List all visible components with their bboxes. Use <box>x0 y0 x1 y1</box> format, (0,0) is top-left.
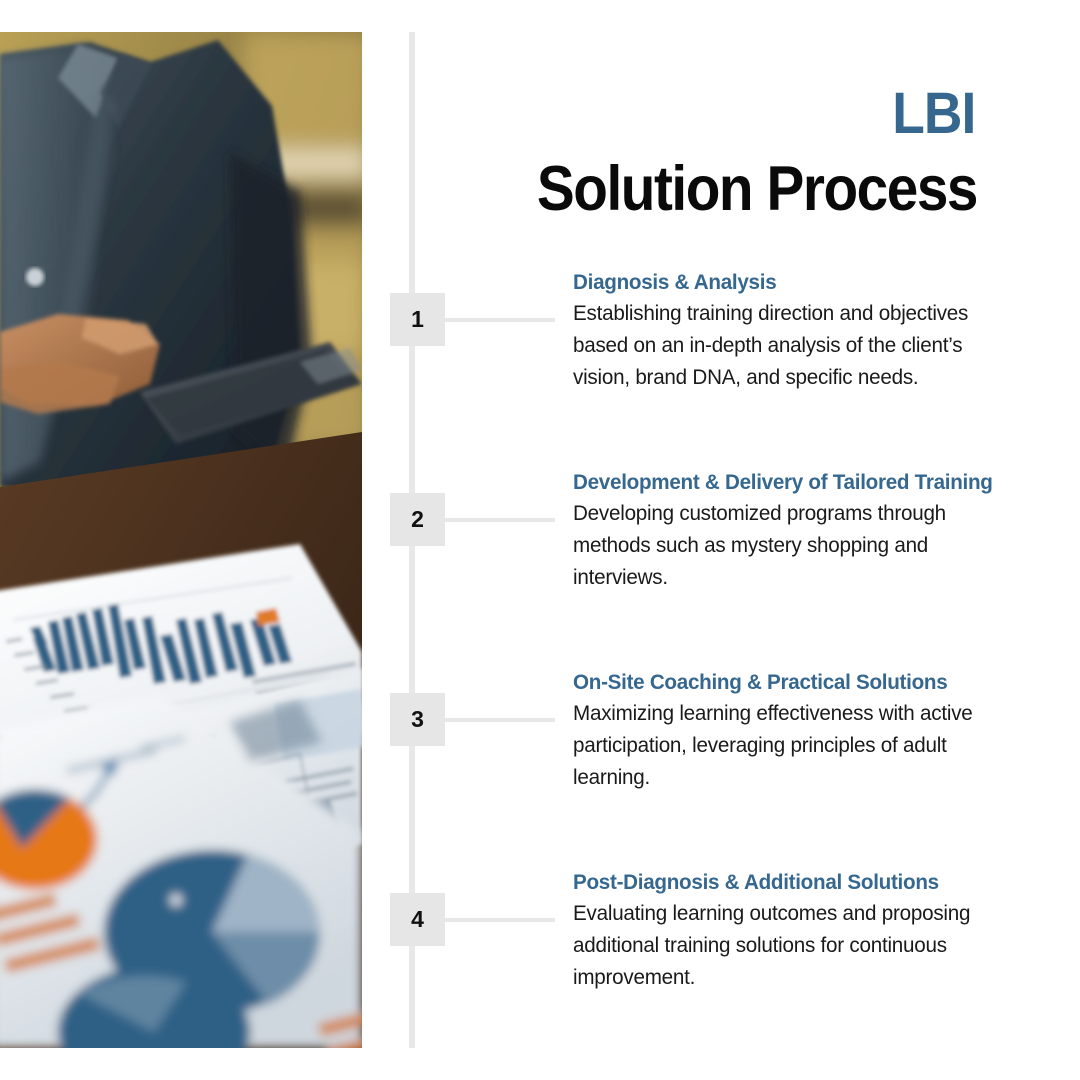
step-title: On-Site Coaching & Practical Solutions <box>573 667 995 698</box>
step-number-badge[interactable]: 1 <box>390 293 445 346</box>
step-connector-line <box>445 918 555 922</box>
infographic-canvas: LBI Solution Process 1 Diagnosis & Analy… <box>0 0 1080 1080</box>
step-title: Post-Diagnosis & Additional Solutions <box>573 867 995 898</box>
step-title: Diagnosis & Analysis <box>573 267 995 298</box>
step-connector-line <box>445 518 555 522</box>
step-description: Evaluating learning outcomes and proposi… <box>573 898 995 993</box>
step-title: Development & Delivery of Tailored Train… <box>573 467 995 498</box>
step-content: Diagnosis & Analysis Establishing traini… <box>573 267 1013 394</box>
step-content: Development & Delivery of Tailored Train… <box>573 467 1013 594</box>
step-connector-line <box>445 718 555 722</box>
step-number-badge[interactable]: 3 <box>390 693 445 746</box>
step-number-badge[interactable]: 4 <box>390 893 445 946</box>
step-description: Developing customized programs through m… <box>573 498 995 593</box>
process-steps-list: 1 Diagnosis & Analysis Establishing trai… <box>0 0 1080 1080</box>
step-description: Maximizing learning effectiveness with a… <box>573 698 995 793</box>
step-connector-line <box>445 318 555 322</box>
step-description: Establishing training direction and obje… <box>573 298 995 393</box>
step-number-badge[interactable]: 2 <box>390 493 445 546</box>
step-content: On-Site Coaching & Practical Solutions M… <box>573 667 1013 794</box>
step-content: Post-Diagnosis & Additional Solutions Ev… <box>573 867 1013 994</box>
